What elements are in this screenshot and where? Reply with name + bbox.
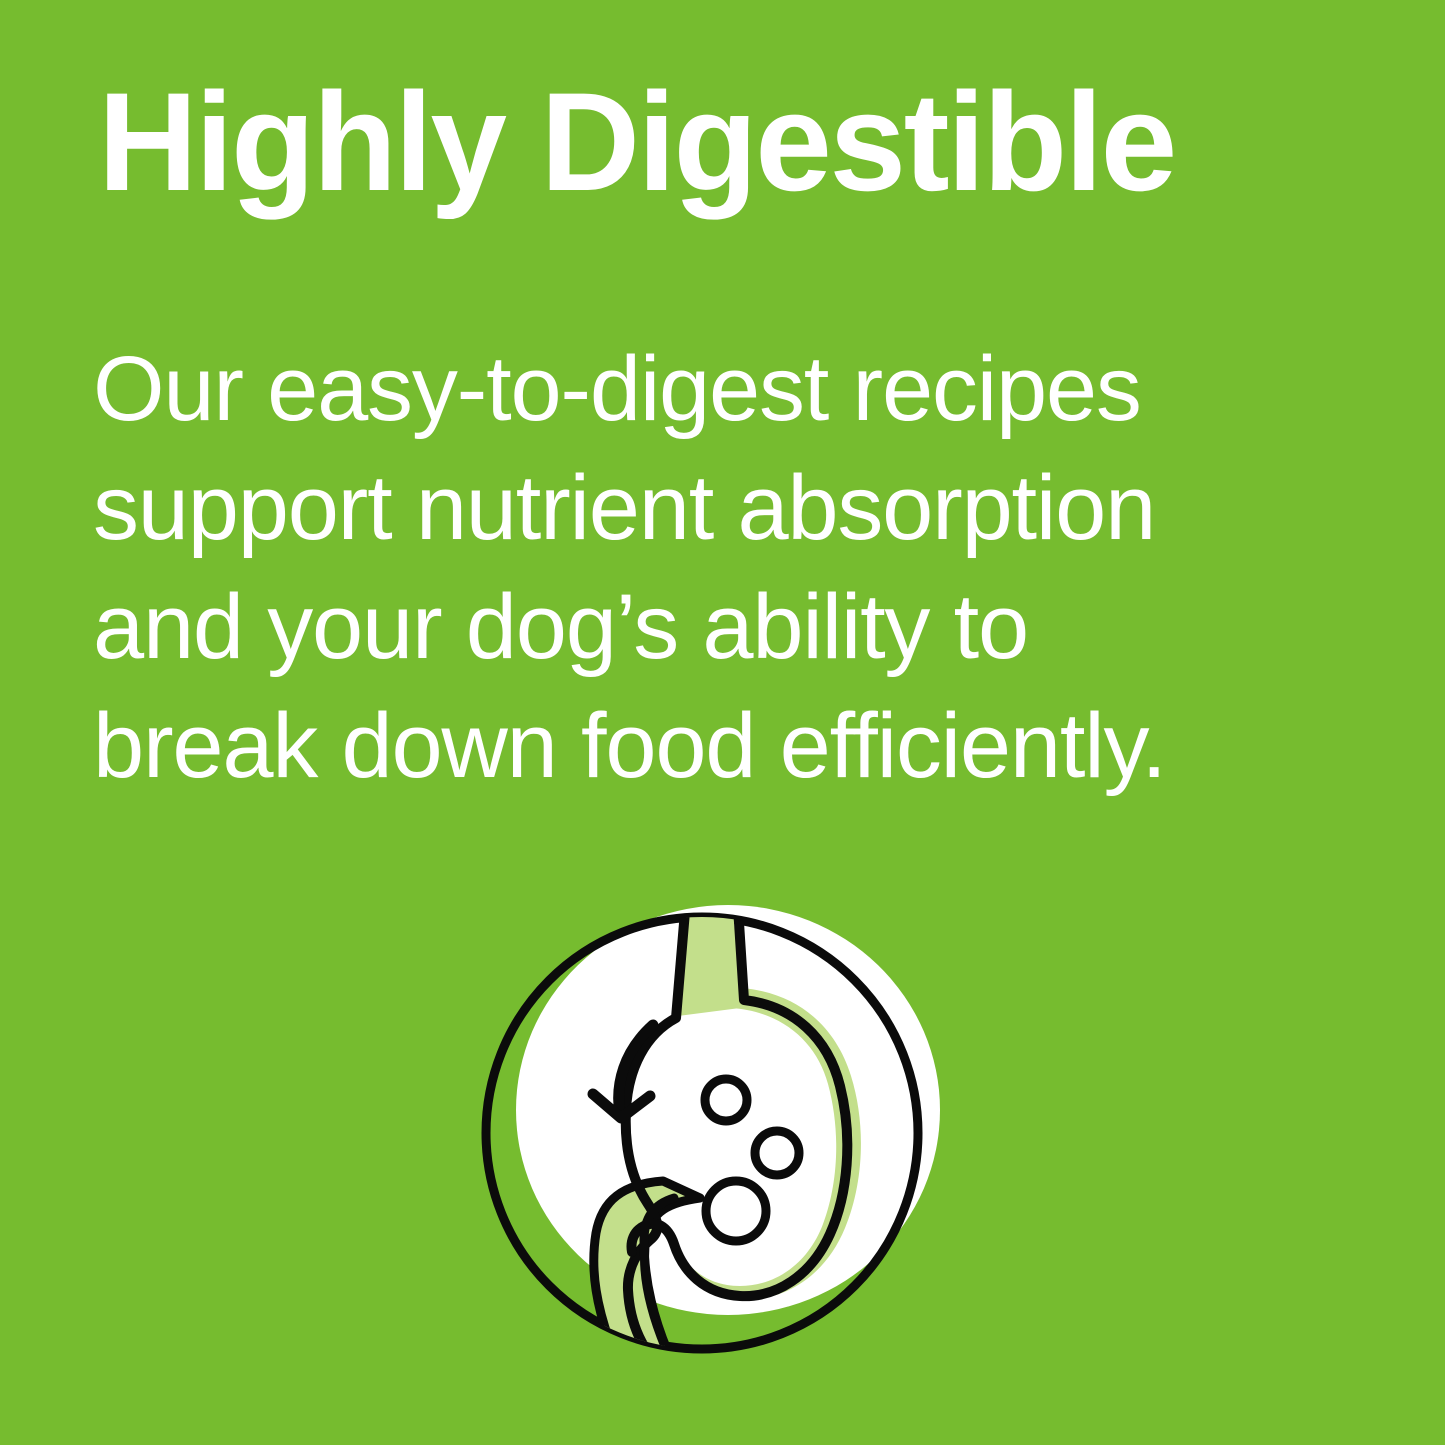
bubble-medium: [755, 1131, 799, 1175]
body-copy-line: support nutrient absorption: [93, 449, 1393, 568]
bubble-large: [706, 1181, 766, 1241]
bubble-small: [705, 1079, 747, 1121]
page-title: Highly Digestible: [98, 68, 1369, 216]
body-copy: Our easy-to-digest recipes support nutri…: [93, 330, 1393, 806]
body-copy-line: break down food efficiently.: [93, 687, 1393, 806]
highly-digestible-card: Highly Digestible Our easy-to-digest rec…: [0, 0, 1445, 1445]
stomach-digestion-icon: [478, 888, 968, 1378]
body-copy-line: and your dog’s ability to: [93, 568, 1393, 687]
body-copy-line: Our easy-to-digest recipes: [93, 330, 1393, 449]
